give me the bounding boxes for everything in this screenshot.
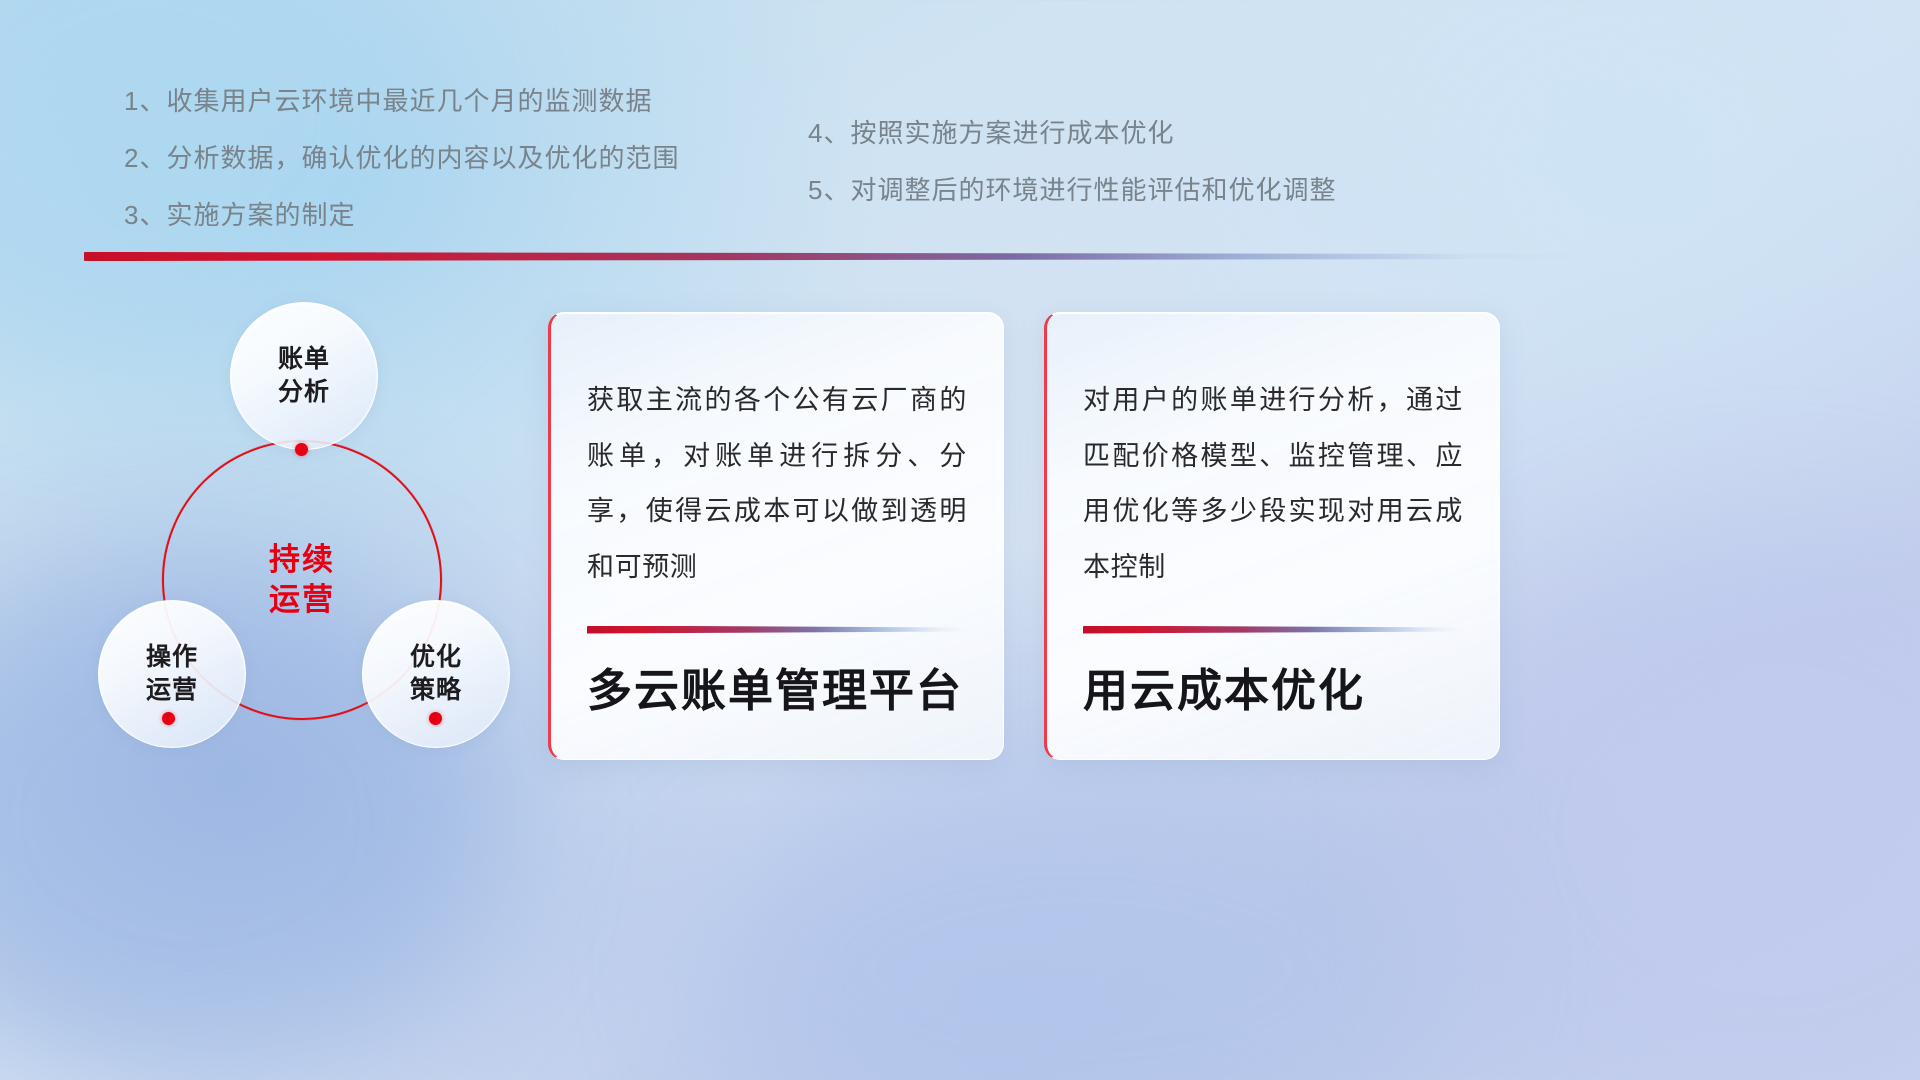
process-step-4: 4、按照实施方案进行成本优化 — [808, 120, 1336, 146]
diagram-connector-dot-left — [162, 712, 175, 725]
card-2-body: 对用户的账单进行分析，通过匹配价格模型、监控管理、应用优化等多少段实现对用云成本… — [1083, 373, 1463, 595]
feature-card-cloud-cost-optimization[interactable]: 对用户的账单进行分析，通过匹配价格模型、监控管理、应用优化等多少段实现对用云成本… — [1044, 312, 1500, 760]
diagram-node-operations[interactable]: 操作 运营 — [98, 600, 246, 748]
feature-card-multicloud-billing[interactable]: 获取主流的各个公有云厂商的账单，对账单进行拆分、分享，使得云成本可以做到透明和可… — [548, 312, 1004, 760]
card-1-body: 获取主流的各个公有云厂商的账单，对账单进行拆分、分享，使得云成本可以做到透明和可… — [587, 373, 967, 595]
process-steps-left-column: 1、收集用户云环境中最近几个月的监测数据 2、分析数据，确认优化的内容以及优化的… — [124, 88, 679, 259]
section-divider — [84, 252, 1584, 264]
process-step-3: 3、实施方案的制定 — [124, 202, 679, 228]
process-step-1: 1、收集用户云环境中最近几个月的监测数据 — [124, 88, 679, 114]
node-right-label-line-2: 策略 — [410, 676, 462, 704]
diagram-connector-dot-top — [295, 443, 308, 456]
process-step-5: 5、对调整后的环境进行性能评估和优化调整 — [808, 177, 1336, 203]
center-label-line-1: 持续 — [269, 542, 335, 577]
card-1-rule — [587, 626, 967, 634]
section-divider-bar — [84, 252, 1584, 261]
background-blob-center — [700, 760, 1460, 1080]
card-2-rule — [1083, 626, 1463, 634]
diagram-node-optimization-strategy[interactable]: 优化 策略 — [362, 600, 510, 748]
card-2-title: 用云成本优化 — [1083, 666, 1463, 716]
continuous-operation-diagram: 持续 运营 账单 分析 操作 运营 优化 策略 — [84, 288, 524, 768]
process-steps: 1、收集用户云环境中最近几个月的监测数据 2、分析数据，确认优化的内容以及优化的… — [0, 88, 1920, 248]
node-left-label-line-1: 操作 — [146, 643, 198, 671]
node-top-label-line-1: 账单 — [278, 345, 330, 373]
feature-cards: 获取主流的各个公有云厂商的账单，对账单进行拆分、分享，使得云成本可以做到透明和可… — [548, 312, 1880, 760]
process-step-2: 2、分析数据，确认优化的内容以及优化的范围 — [124, 145, 679, 171]
node-left-label-line-2: 运营 — [146, 676, 198, 704]
process-steps-right-column: 4、按照实施方案进行成本优化 5、对调整后的环境进行性能评估和优化调整 — [808, 120, 1336, 234]
diagram-node-bill-analysis[interactable]: 账单 分析 — [230, 302, 378, 450]
card-1-title: 多云账单管理平台 — [587, 666, 967, 716]
center-label-line-2: 运营 — [269, 582, 335, 617]
node-top-label-line-2: 分析 — [278, 378, 330, 406]
diagram-connector-dot-right — [429, 712, 442, 725]
node-right-label-line-1: 优化 — [410, 643, 462, 671]
